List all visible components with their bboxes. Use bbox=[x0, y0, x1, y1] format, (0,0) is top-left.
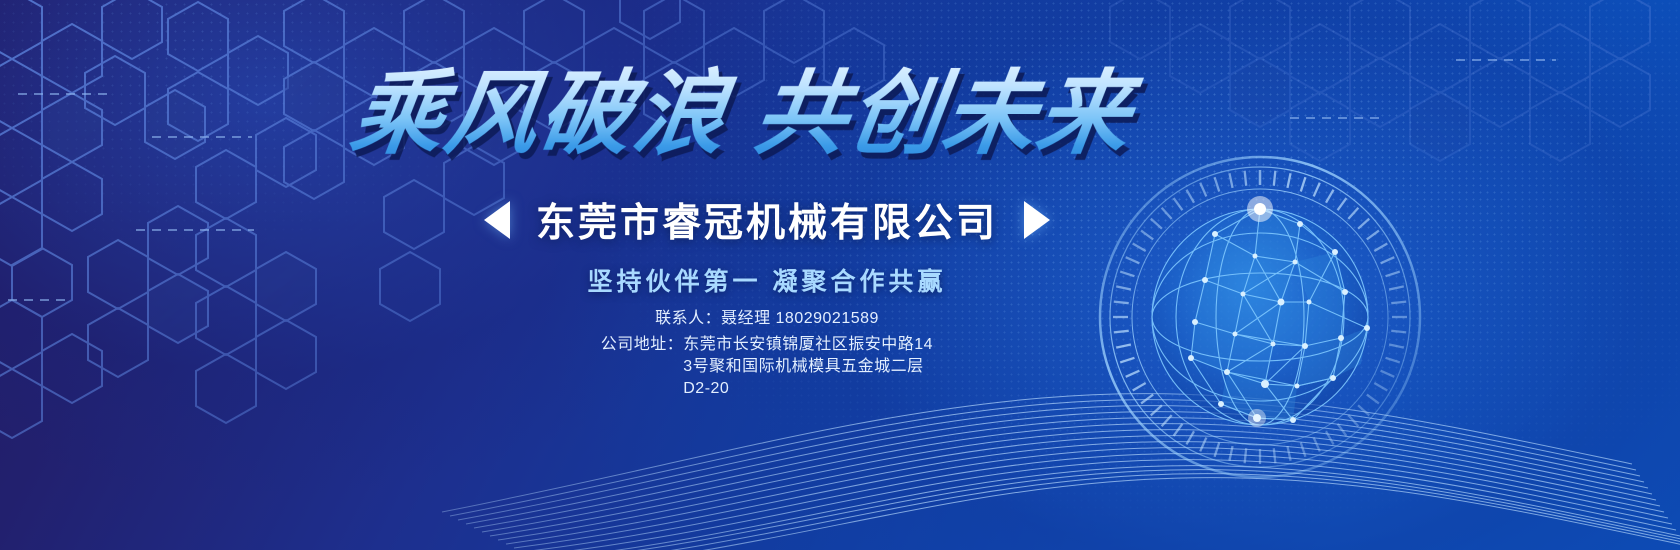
company-address-line: 公司地址： 东莞市长安镇锦厦社区振安中路143号聚和国际机械模具五金城二层D2-… bbox=[601, 334, 934, 400]
contact-person-label: 联系人： bbox=[655, 308, 721, 330]
company-address-label: 公司地址： bbox=[601, 334, 684, 356]
left-triangle-icon bbox=[484, 201, 510, 239]
company-name-row: 东莞市睿冠机械有限公司 bbox=[352, 192, 1182, 248]
company-address-value: 东莞市长安镇锦厦社区振安中路143号聚和国际机械模具五金城二层D2-20 bbox=[683, 334, 933, 400]
contact-block: 联系人： 聂经理 18029021589 公司地址： 东莞市长安镇锦厦社区振安中… bbox=[352, 308, 1182, 400]
right-triangle-icon bbox=[1024, 201, 1050, 239]
contact-person-value: 聂经理 18029021589 bbox=[721, 308, 879, 330]
contact-person-line: 联系人： 聂经理 18029021589 bbox=[655, 308, 879, 330]
headline-text: 乘风破浪 共创未来 bbox=[345, 64, 1189, 164]
company-name: 东莞市睿冠机械有限公司 bbox=[536, 192, 998, 248]
promo-banner: 乘风破浪 共创未来 东莞市睿冠机械有限公司 坚持伙伴第一 凝聚合作共赢 联系人：… bbox=[0, 0, 1680, 550]
slogan-text: 坚持伙伴第一 凝聚合作共赢 bbox=[352, 262, 1182, 298]
headline-container: 乘风破浪 共创未来 bbox=[352, 64, 1182, 164]
